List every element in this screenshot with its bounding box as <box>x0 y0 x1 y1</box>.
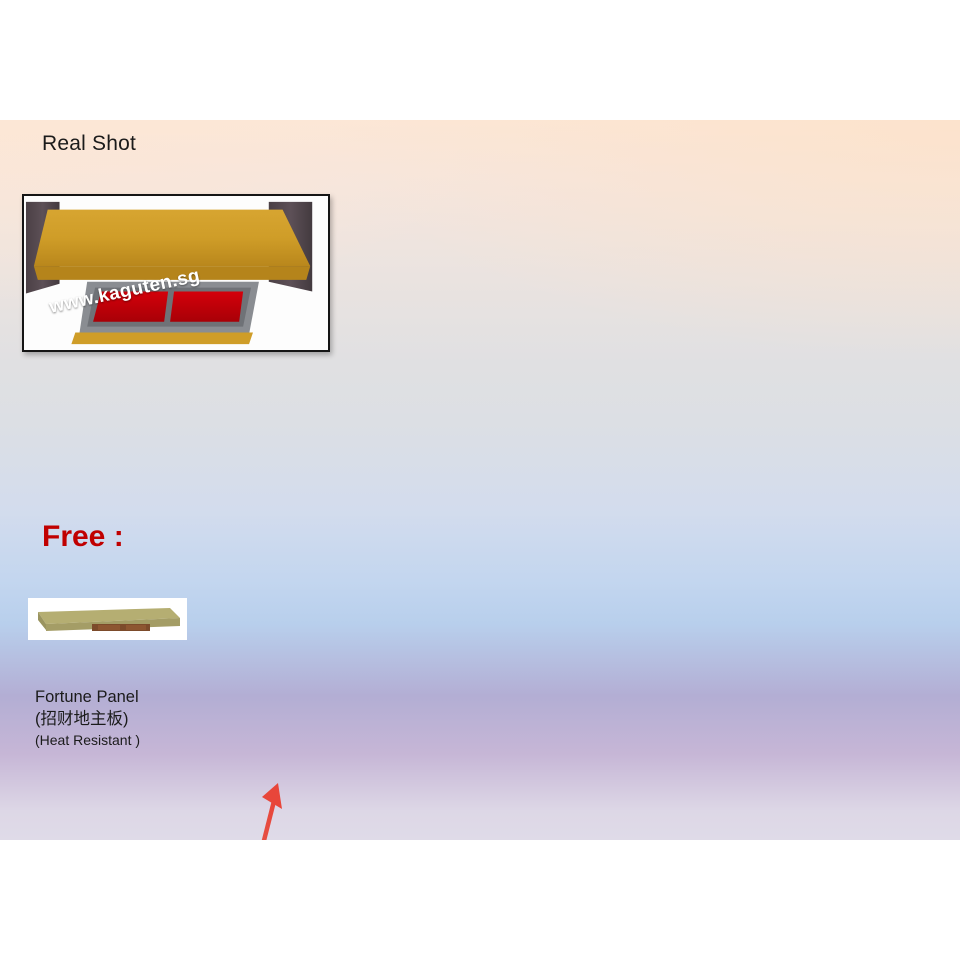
slide-canvas: Real Shot <box>0 120 960 840</box>
fortune-panel-line3: (Heat Resistant ) <box>35 731 960 750</box>
page-title: Real Shot <box>42 132 960 156</box>
photo-real-shot-tray[interactable]: www.kaguten.sg <box>22 194 330 352</box>
photo-real-shot-art <box>24 196 328 350</box>
pointer-arrow-icon <box>232 775 292 840</box>
photo-fortune-panel-art <box>28 598 187 640</box>
fortune-panel-line2: (招财地主板) <box>35 708 960 730</box>
fortune-panel-line1: Fortune Panel <box>35 686 960 708</box>
photo-fortune-panel[interactable] <box>28 598 187 640</box>
free-label-left: Free : <box>42 520 960 554</box>
fortune-panel-caption: Fortune Panel (招财地主板) (Heat Resistant ) <box>35 686 960 749</box>
